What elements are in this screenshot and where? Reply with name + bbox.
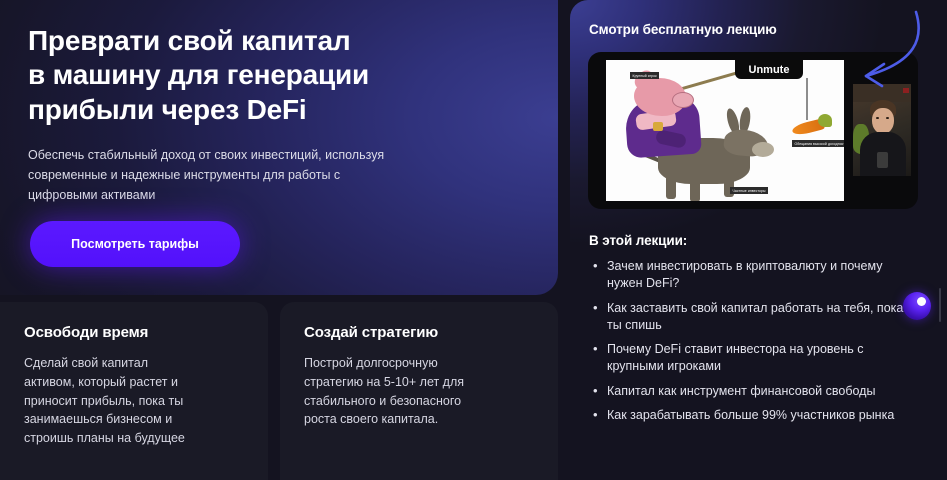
- donkey-leg-icon: [690, 178, 700, 201]
- unmute-button[interactable]: Unmute: [735, 60, 803, 79]
- list-item: Зачем инвестировать в криптовалюту и поч…: [592, 258, 907, 293]
- feature-card-free-time: Освободи время Сделай свой капитал актив…: [0, 302, 268, 480]
- slide-label-big-player: Крупный игрок: [630, 72, 659, 79]
- card-body: Построй долгосрочную стратегию на 5-10+ …: [304, 354, 534, 429]
- landing-page: Преврати свой капитал в машину для генер…: [0, 0, 947, 480]
- feature-card-strategy: Создай стратегию Построй долгосрочную ст…: [280, 302, 558, 480]
- red-light-icon: [903, 88, 909, 93]
- fishing-line-icon: [806, 78, 808, 120]
- video-player[interactable]: Крупный игрок Обещания высокой доходност…: [588, 52, 918, 209]
- card-title: Освободи время: [24, 324, 244, 341]
- page-title: Преврати свой капитал в машину для генер…: [28, 24, 528, 127]
- speaker-eye-icon: [886, 117, 889, 119]
- hero-content: Преврати свой капитал в машину для генер…: [28, 24, 528, 206]
- donkey-muzzle-icon: [752, 142, 774, 157]
- list-item: Почему DeFi ставит инвестора на уровень …: [592, 341, 907, 376]
- presentation-slide: Крупный игрок Обещания высокой доходност…: [606, 60, 844, 201]
- card-title: Создай стратегию: [304, 324, 534, 341]
- hero-subheading: Обеспечь стабильный доход от своих инвес…: [28, 146, 428, 205]
- carrot-leaves-icon: [818, 114, 832, 127]
- pig-snout-icon: [672, 92, 694, 108]
- donkey-leg-icon: [666, 175, 676, 199]
- webcam-overlay: [853, 84, 911, 176]
- card-body: Сделай свой капитал активом, который рас…: [24, 354, 244, 448]
- lecture-panel-title: Смотри бесплатную лекцию: [589, 22, 777, 37]
- lecture-list-heading: В этой лекции:: [589, 233, 687, 248]
- slide-label-private-investors: Частные инвесторы: [730, 187, 768, 194]
- view-pricing-button[interactable]: Посмотреть тарифы: [30, 221, 240, 267]
- hero-panel: Преврати свой капитал в машину для генер…: [0, 0, 558, 295]
- lecture-bullet-list: Зачем инвестировать в криптовалюту и поч…: [592, 258, 907, 431]
- floating-assistant-button[interactable]: [903, 292, 931, 320]
- slide-label-promises: Обещания высокой доходности: [792, 140, 844, 147]
- list-item: Капитал как инструмент финансовой свобод…: [592, 383, 907, 400]
- lecture-panel: Смотри бесплатную лекцию: [570, 0, 947, 480]
- speaker-eye-icon: [876, 117, 879, 119]
- speaker-face-icon: [872, 108, 894, 134]
- microphone-icon: [877, 152, 888, 168]
- list-item: Как зарабатывать больше 99% участников р…: [592, 407, 907, 424]
- sphere-highlight-icon: [917, 297, 926, 306]
- scrollbar-thumb[interactable]: [939, 288, 941, 322]
- pig-tie-icon: [653, 122, 663, 131]
- list-item: Как заставить свой капитал работать на т…: [592, 300, 907, 335]
